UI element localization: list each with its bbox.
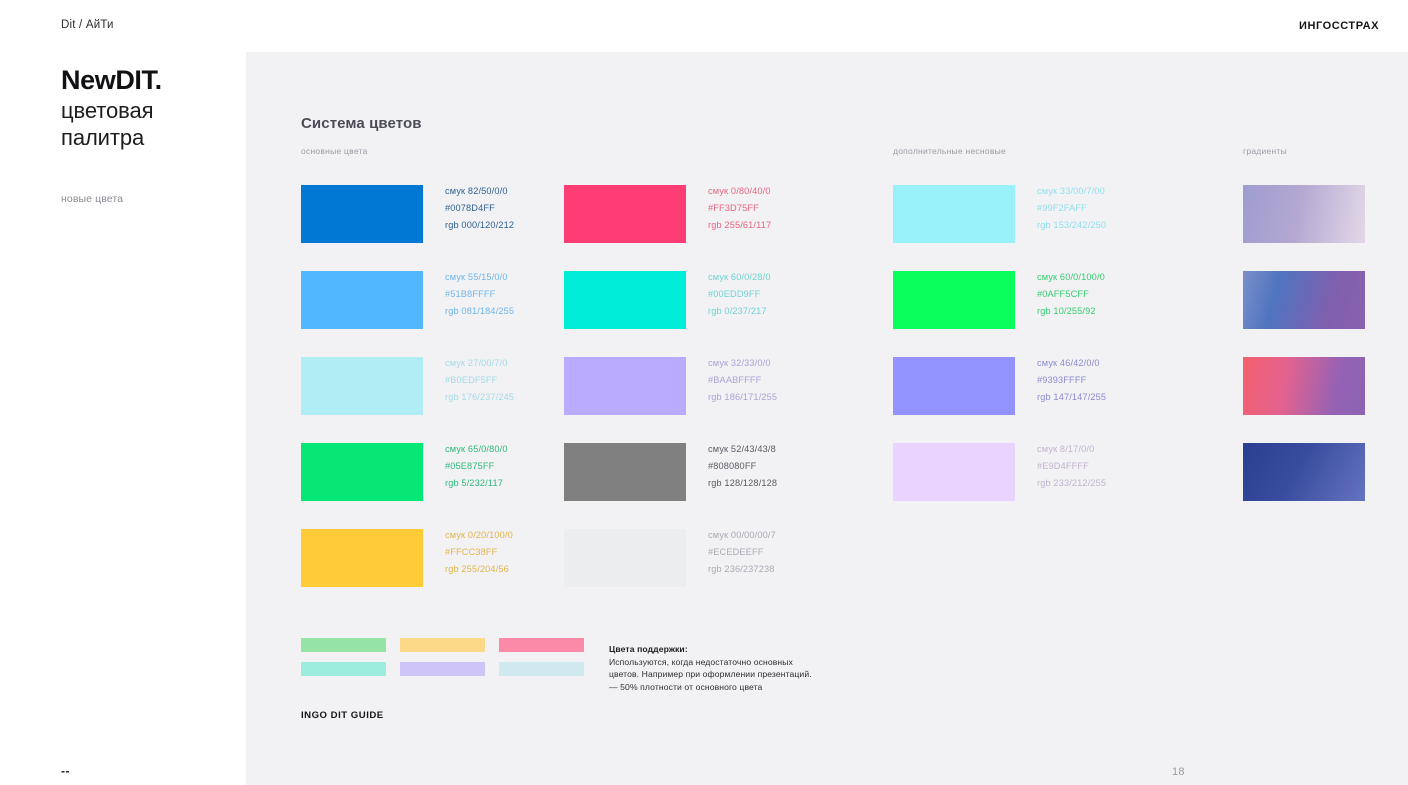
color-swatch-meta: смук 33/00/7/00#99F2FAFFrgb 153/242/250 — [1037, 183, 1157, 235]
color-swatch-meta: смук 52/43/43/8#808080FFrgb 128/128/128 — [708, 441, 828, 493]
color-hex-label: #0AFF5CFF — [1037, 286, 1157, 303]
color-rgb-label: rgb 176/237/245 — [445, 389, 565, 406]
support-color-swatch[interactable] — [400, 662, 485, 676]
color-swatch[interactable] — [301, 357, 423, 415]
color-hex-label: #05E875FF — [445, 458, 565, 475]
color-swatch[interactable] — [564, 185, 686, 243]
color-rgb-label: rgb 000/120/212 — [445, 217, 565, 234]
rail-footer-mark: -- — [61, 765, 70, 777]
color-cmyk-label: смук 60/0/100/0 — [1037, 269, 1157, 286]
color-hex-label: #BAABFFFF — [708, 372, 828, 389]
support-colors-block — [301, 638, 584, 686]
support-color-swatch[interactable] — [301, 638, 386, 652]
color-rgb-label: rgb 0/237/217 — [708, 303, 828, 320]
color-hex-label: #99F2FAFF — [1037, 200, 1157, 217]
color-hex-label: #0078D4FF — [445, 200, 565, 217]
color-rgb-label: rgb 147/147/255 — [1037, 389, 1157, 406]
color-swatch-meta: смук 60/0/100/0#0AFF5CFFrgb 10/255/92 — [1037, 269, 1157, 321]
page-title-sub-line2: палитра — [61, 125, 241, 152]
color-rgb-label: rgb 081/184/255 — [445, 303, 565, 320]
color-hex-label: #FF3D75FF — [708, 200, 828, 217]
color-hex-label: #FFCC38FF — [445, 544, 565, 561]
color-swatch-meta: смук 0/80/40/0#FF3D75FFrgb 255/61/117 — [708, 183, 828, 235]
color-cmyk-label: смук 0/20/100/0 — [445, 527, 565, 544]
color-swatch[interactable] — [564, 443, 686, 501]
color-rgb-label: rgb 233/212/255 — [1037, 475, 1157, 492]
color-cmyk-label: смук 32/33/0/0 — [708, 355, 828, 372]
color-cmyk-label: смук 65/0/80/0 — [445, 441, 565, 458]
guide-label: INGO DIT GUIDE — [301, 710, 384, 721]
color-swatch-meta: смук 27/00/7/0#B0EDF5FFrgb 176/237/245 — [445, 355, 565, 407]
support-color-row — [301, 638, 584, 652]
rail-note: новые цвета — [61, 193, 123, 205]
page-title-sub-line1: цветовая — [61, 98, 241, 125]
color-swatch-meta: смук 00/00/00/7#ECEDEEFFrgb 236/237238 — [708, 527, 828, 579]
support-description-line3: — 50% плотности от основного цвета — [609, 681, 824, 694]
color-swatch-meta: смук 65/0/80/0#05E875FFrgb 5/232/117 — [445, 441, 565, 493]
color-swatch-meta: смук 82/50/0/0#0078D4FFrgb 000/120/212 — [445, 183, 565, 235]
color-cmyk-label: смук 46/42/0/0 — [1037, 355, 1157, 372]
color-hex-label: #00EDD9FF — [708, 286, 828, 303]
color-swatch-meta: смук 46/42/0/0#9393FFFFrgb 147/147/255 — [1037, 355, 1157, 407]
column-header-gradients: градиенты — [1243, 146, 1287, 156]
color-rgb-label: rgb 128/128/128 — [708, 475, 828, 492]
brand-label: ИНГОССТРАХ — [1299, 20, 1379, 32]
color-rgb-label: rgb 5/232/117 — [445, 475, 565, 492]
color-hex-label: #B0EDF5FF — [445, 372, 565, 389]
color-swatch-meta: смук 8/17/0/0#E9D4FFFFrgb 233/212/255 — [1037, 441, 1157, 493]
support-color-swatch[interactable] — [301, 662, 386, 676]
color-rgb-label: rgb 153/242/250 — [1037, 217, 1157, 234]
gradient-swatch[interactable] — [1243, 443, 1365, 501]
left-rail: Dit / АйТи NewDIT. цветовая палитра новы… — [0, 0, 246, 785]
support-description-heading: Цвета поддержки: — [609, 643, 824, 656]
breadcrumb: Dit / АйТи — [61, 19, 114, 31]
color-cmyk-label: смук 27/00/7/0 — [445, 355, 565, 372]
color-swatch[interactable] — [564, 529, 686, 587]
color-swatch[interactable] — [893, 443, 1015, 501]
section-title: Система цветов — [301, 115, 422, 132]
color-hex-label: #9393FFFF — [1037, 372, 1157, 389]
color-cmyk-label: смук 8/17/0/0 — [1037, 441, 1157, 458]
color-rgb-label: rgb 255/61/117 — [708, 217, 828, 234]
color-cmyk-label: смук 33/00/7/00 — [1037, 183, 1157, 200]
color-cmyk-label: смук 00/00/00/7 — [708, 527, 828, 544]
support-color-swatch[interactable] — [499, 638, 584, 652]
color-swatch[interactable] — [893, 357, 1015, 415]
color-cmyk-label: смук 52/43/43/8 — [708, 441, 828, 458]
page-title-main: NewDIT. — [61, 66, 241, 96]
color-swatch[interactable] — [893, 185, 1015, 243]
slide-canvas: ИНГОССТРАХ 18 Система цветов основные цв… — [246, 0, 1408, 785]
support-colors-description: Цвета поддержки: Используются, когда нед… — [609, 643, 824, 693]
support-description-line1: Используются, когда недостаточно основны… — [609, 656, 824, 669]
page-title: NewDIT. цветовая палитра — [61, 66, 241, 151]
slide-root: Dit / АйТи NewDIT. цветовая палитра новы… — [0, 0, 1408, 785]
color-rgb-label: rgb 255/204/56 — [445, 561, 565, 578]
color-swatch[interactable] — [564, 271, 686, 329]
color-cmyk-label: смук 82/50/0/0 — [445, 183, 565, 200]
support-description-line2: цветов. Например при оформлении презента… — [609, 668, 824, 681]
topbar: ИНГОССТРАХ — [246, 0, 1408, 52]
color-cmyk-label: смук 0/80/40/0 — [708, 183, 828, 200]
color-swatch[interactable] — [564, 357, 686, 415]
color-swatch-meta: смук 60/0/28/0#00EDD9FFrgb 0/237/217 — [708, 269, 828, 321]
support-color-swatch[interactable] — [400, 638, 485, 652]
color-swatch-meta: смук 0/20/100/0#FFCC38FFrgb 255/204/56 — [445, 527, 565, 579]
color-hex-label: #808080FF — [708, 458, 828, 475]
color-swatch[interactable] — [301, 443, 423, 501]
color-swatch-meta: смук 32/33/0/0#BAABFFFFrgb 186/171/255 — [708, 355, 828, 407]
page-number: 18 — [1172, 766, 1185, 778]
gradient-swatch[interactable] — [1243, 271, 1365, 329]
color-rgb-label: rgb 236/237238 — [708, 561, 828, 578]
color-hex-label: #E9D4FFFF — [1037, 458, 1157, 475]
color-swatch[interactable] — [301, 271, 423, 329]
column-header-main: основные цвета — [301, 146, 368, 156]
gradient-swatch[interactable] — [1243, 185, 1365, 243]
color-cmyk-label: смук 55/15/0/0 — [445, 269, 565, 286]
color-hex-label: #51B8FFFF — [445, 286, 565, 303]
support-color-row — [301, 662, 584, 676]
support-color-swatch[interactable] — [499, 662, 584, 676]
column-header-neon: дополнительные несновые — [893, 146, 1006, 156]
gradient-swatch[interactable] — [1243, 357, 1365, 415]
color-rgb-label: rgb 186/171/255 — [708, 389, 828, 406]
color-hex-label: #ECEDEEFF — [708, 544, 828, 561]
color-swatch[interactable] — [893, 271, 1015, 329]
color-cmyk-label: смук 60/0/28/0 — [708, 269, 828, 286]
color-swatch-meta: смук 55/15/0/0#51B8FFFFrgb 081/184/255 — [445, 269, 565, 321]
color-swatch[interactable] — [301, 185, 423, 243]
color-swatch[interactable] — [301, 529, 423, 587]
color-rgb-label: rgb 10/255/92 — [1037, 303, 1157, 320]
page-title-sub: цветовая палитра — [61, 98, 241, 152]
